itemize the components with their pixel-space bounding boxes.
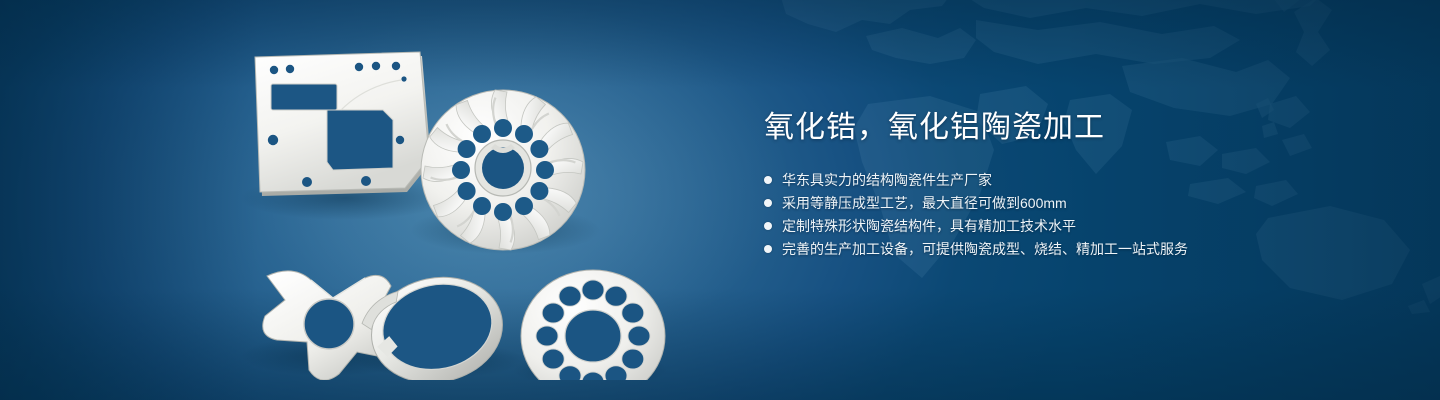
list-item: 定制特殊形状陶瓷结构件，具有精加工技术水平 bbox=[764, 214, 1324, 237]
bullet-dot-icon bbox=[764, 199, 772, 207]
banner-headline: 氧化锆，氧化铝陶瓷加工 bbox=[764, 108, 1324, 148]
bullet-dot-icon bbox=[764, 222, 772, 230]
ceramic-plate bbox=[255, 52, 431, 196]
feature-text: 华东具实力的结构陶瓷件生产厂家 bbox=[782, 170, 992, 190]
feature-text: 定制特殊形状陶瓷结构件，具有精加工技术水平 bbox=[782, 216, 1076, 236]
bullet-dot-icon bbox=[764, 245, 772, 253]
list-item: 采用等静压成型工艺，最大直径可做到600mm bbox=[764, 191, 1324, 214]
bullet-dot-icon bbox=[764, 176, 772, 184]
ceramic-holed-disc bbox=[521, 270, 665, 380]
banner-copy: 氧化锆，氧化铝陶瓷加工 华东具实力的结构陶瓷件生产厂家 采用等静压成型工艺，最大… bbox=[764, 108, 1324, 260]
ceramic-products-image bbox=[215, 40, 715, 380]
promo-banner: 氧化锆，氧化铝陶瓷加工 华东具实力的结构陶瓷件生产厂家 采用等静压成型工艺，最大… bbox=[0, 0, 1440, 400]
feature-text: 完善的生产加工设备，可提供陶瓷成型、烧结、精加工一站式服务 bbox=[782, 239, 1188, 259]
list-item: 完善的生产加工设备，可提供陶瓷成型、烧结、精加工一站式服务 bbox=[764, 237, 1324, 260]
feature-list: 华东具实力的结构陶瓷件生产厂家 采用等静压成型工艺，最大直径可做到600mm 定… bbox=[764, 168, 1324, 260]
list-item: 华东具实力的结构陶瓷件生产厂家 bbox=[764, 168, 1324, 191]
ceramic-impeller bbox=[421, 90, 585, 250]
feature-text: 采用等静压成型工艺，最大直径可做到600mm bbox=[782, 193, 1067, 213]
